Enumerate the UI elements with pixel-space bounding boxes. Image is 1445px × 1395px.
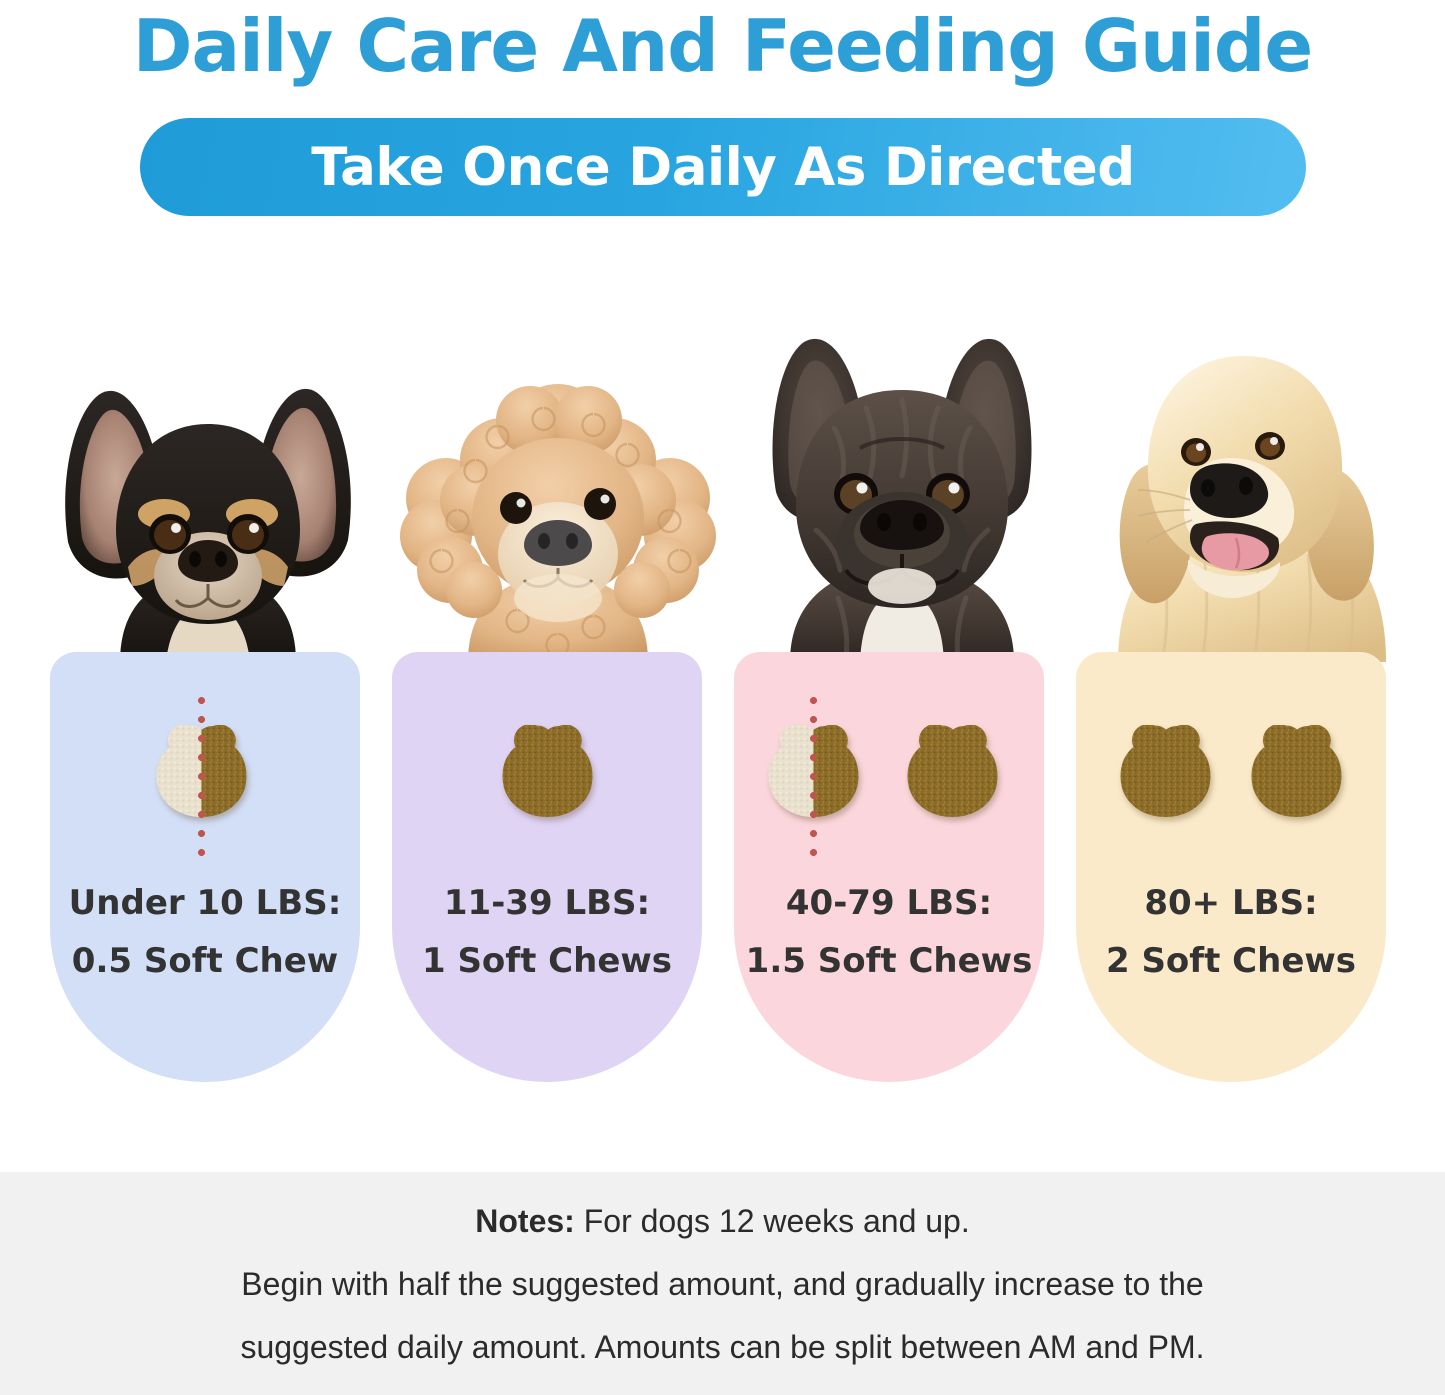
weight-range-label: 80+ LBS: [1144,883,1317,923]
chew-illustration-group [734,692,1044,857]
chew-full [1113,725,1218,825]
card-label-40-79-lbs: 40-79 LBS: 1.5 Soft Chews [734,874,1044,990]
notes-line-3: suggested daily amount. Amounts can be s… [0,1316,1445,1379]
chew-illustration-group [392,692,702,857]
chew-full [900,725,1005,825]
dose-label: 0.5 Soft Chew [50,932,360,990]
chew-illustration-group [1076,692,1386,857]
dose-label: 2 Soft Chews [1076,932,1386,990]
dose-label: 1.5 Soft Chews [734,932,1044,990]
chew-half [149,725,254,825]
dog-photo-poodle [398,378,718,662]
notes-line-1: Notes: For dogs 12 weeks and up. [0,1190,1445,1253]
notes-line-2: Begin with half the suggested amount, an… [0,1253,1445,1316]
notes-label: Notes: [475,1203,575,1239]
chew-half [761,725,866,825]
notes-line-1-text: For dogs 12 weeks and up. [575,1203,970,1239]
dosage-card-80-plus-lbs[interactable]: 80+ LBS: 2 Soft Chews [1076,652,1386,1082]
card-label-under-10-lbs: Under 10 LBS: 0.5 Soft Chew [50,874,360,990]
dosage-cards-row: Under 10 LBS: 0.5 Soft Chew [0,0,1445,1160]
feeding-guide-page: Daily Care And Feeding Guide Take Once D… [0,0,1445,1395]
chew-full [495,725,600,825]
chew-illustration-group [50,692,360,857]
weight-range-label: 11-39 LBS: [444,883,650,923]
notes-section: Notes: For dogs 12 weeks and up. Begin w… [0,1172,1445,1395]
half-split-dotted-line [197,691,206,859]
chew-full [1244,725,1349,825]
dosage-card-11-39-lbs[interactable]: 11-39 LBS: 1 Soft Chews [392,652,702,1082]
dosage-card-under-10-lbs[interactable]: Under 10 LBS: 0.5 Soft Chew [50,652,360,1082]
card-label-11-39-lbs: 11-39 LBS: 1 Soft Chews [392,874,702,990]
dog-photo-golden-retriever [1084,318,1414,662]
weight-range-label: Under 10 LBS: [69,883,342,923]
dose-label: 1 Soft Chews [392,932,702,990]
dosage-card-40-79-lbs[interactable]: 40-79 LBS: 1.5 Soft Chews [734,652,1044,1082]
card-label-80-plus-lbs: 80+ LBS: 2 Soft Chews [1076,874,1386,990]
dog-photo-chihuahua [48,362,368,662]
dog-photo-french-bulldog [742,308,1062,662]
half-split-dotted-line [809,691,818,859]
weight-range-label: 40-79 LBS: [786,883,992,923]
